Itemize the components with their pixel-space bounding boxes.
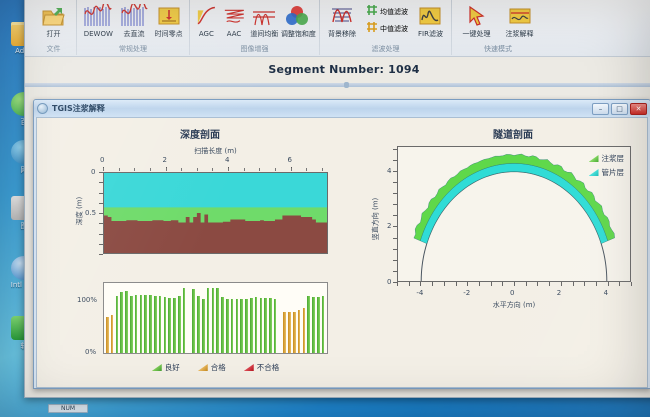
ribbon-group-filter-processing: 背景移除 均值滤波: [320, 0, 452, 55]
ribbon-button-aac[interactable]: AAC: [222, 2, 247, 39]
ribbon-button-label: 道间均衡: [250, 30, 278, 38]
splitter-grip[interactable]: [344, 82, 349, 88]
ribbon-button-label: 调整饱和度: [281, 30, 316, 38]
legend-label: 注浆层: [602, 153, 625, 164]
bar-item: [255, 297, 258, 353]
tunnel-xtick-label: 4: [604, 289, 608, 297]
tunnel-xtick-minor: [573, 282, 574, 286]
tunnel-ytick-minor: [393, 160, 397, 161]
bar-item: [159, 296, 162, 353]
tunnel-xtick-minor: [456, 282, 457, 286]
bar-item: [116, 296, 119, 353]
tunnel-xtick-minor: [479, 282, 480, 286]
splitter-bar[interactable]: [25, 83, 650, 87]
depth-xtick-minor: [212, 168, 213, 171]
tunnel-xtick-minor: [502, 282, 503, 286]
tunnel-xtick-minor: [608, 282, 609, 286]
tunnel-profile-plot-area[interactable]: 注浆层 管片层: [397, 146, 631, 282]
bar-item: [231, 299, 234, 353]
bar-item: [260, 298, 263, 353]
bar-ytick-100: 100%: [77, 296, 97, 304]
ribbon-button-agc[interactable]: AGC: [195, 2, 218, 39]
ribbon-button-label: 一键处理: [463, 30, 491, 38]
depth-xtick-minor: [228, 168, 229, 171]
bar-item: [264, 298, 267, 353]
bar-item: [202, 299, 205, 353]
ribbon-button-label: DEWOW: [84, 30, 113, 38]
legend-swatch-good-icon: [152, 364, 162, 371]
tunnel-xtick-minor: [491, 282, 492, 286]
tunnel-ytick-minor: [393, 149, 397, 150]
ribbon-button-label: AAC: [227, 30, 242, 38]
bar-item: [197, 296, 200, 353]
tunnel-ytick-minor: [393, 204, 397, 205]
depth-profile-ylabel: 深度 (m): [74, 197, 84, 226]
ribbon-button-median-filter[interactable]: 中值滤波: [366, 21, 408, 36]
quality-bar-legend: 良好 合格 不合格: [103, 362, 328, 373]
depth-ytick-minor: [99, 254, 103, 255]
bar-item: [240, 299, 243, 353]
mean-filter-icon: [366, 4, 378, 19]
bar-item: [212, 288, 215, 353]
legend-item-ok: 合格: [198, 362, 226, 373]
tunnel-xtick-minor: [619, 282, 620, 286]
legend-swatch-ok-icon: [198, 364, 208, 371]
app-icon: [37, 103, 48, 114]
bar-item: [221, 297, 224, 353]
tunnel-ytick-minor: [393, 215, 397, 216]
tunnel-ytick-minor: [393, 271, 397, 272]
depth-ytick-label: 0: [91, 168, 95, 176]
depth-profile-plot-area[interactable]: [103, 172, 328, 254]
depth-xtick-minor: [150, 168, 151, 171]
tunnel-ytick-minor: [393, 182, 397, 183]
dc-removal-icon: [120, 2, 148, 28]
bar-item: [236, 299, 239, 353]
tunnel-xtick-minor: [432, 282, 433, 286]
ribbon-button-label: FIR滤波: [418, 30, 443, 38]
tunnel-ytick-label: 2: [387, 222, 391, 230]
legend-label: 管片层: [602, 167, 625, 178]
ribbon-button-open[interactable]: 打开: [41, 2, 67, 39]
bar-item: [106, 317, 109, 353]
bar-item: [164, 297, 167, 353]
ribbon-group-label: 文件: [31, 44, 76, 54]
bar-item: [283, 312, 286, 353]
legend-swatch-grout-icon: [589, 155, 599, 162]
bar-item: [317, 297, 320, 353]
median-filter-icon: [366, 21, 378, 36]
depth-xtick-label: 0: [100, 156, 104, 164]
ribbon-group-label: 常规处理: [77, 44, 189, 54]
tunnel-xtick-minor: [420, 282, 421, 286]
bar-item: [312, 297, 315, 353]
ribbon-button-label: 均值滤波: [380, 7, 408, 17]
depth-xtick-minor: [244, 168, 245, 171]
tunnel-xtick-minor: [631, 282, 632, 286]
depth-profile-chart: 深度剖面 扫描长度 (m) 0246 00.5 深度 (m): [55, 124, 345, 274]
open-folder-icon: [41, 2, 67, 28]
legend-swatch-bad-icon: [244, 364, 254, 371]
tunnel-xtick-minor: [596, 282, 597, 286]
bar-item: [216, 288, 219, 353]
bar-item: [130, 296, 133, 353]
bar-item: [298, 310, 301, 353]
tunnel-ytick-minor: [393, 249, 397, 250]
tunnel-xtick-label: 0: [510, 289, 514, 297]
ribbon-button-dc-removal[interactable]: 去直流: [120, 2, 148, 39]
ribbon-group-regular-processing: DEWOW 去直流: [77, 0, 190, 55]
inner-window-body: 深度剖面 扫描长度 (m) 0246 00.5 深度 (m) 100% 0% 良…: [36, 117, 648, 388]
bar-item: [120, 292, 123, 353]
depth-profile-xlabel: 扫描长度 (m): [103, 146, 328, 156]
bar-item: [149, 295, 152, 353]
tunnel-xtick-minor: [561, 282, 562, 286]
depth-xtick-minor: [291, 168, 292, 171]
legend-swatch-segment-icon: [589, 169, 599, 176]
segment-layer-band: [420, 163, 607, 243]
bar-item: [322, 296, 325, 353]
bar-item: [135, 295, 138, 353]
depth-xtick-minor: [134, 168, 135, 171]
legend-label: 不合格: [257, 362, 280, 373]
ribbon-button-label: 注浆解释: [506, 30, 534, 38]
legend-item-bad: 不合格: [244, 362, 280, 373]
ribbon-button-time-zero[interactable]: 时间零点: [155, 2, 183, 39]
tunnel-profile-chart: 隧道剖面 注浆层 管片层 -4-2024 02: [359, 124, 647, 374]
ribbon-group-label: 滤波处理: [320, 44, 451, 54]
tunnel-xtick-label: -2: [463, 289, 470, 297]
ribbon-group-label: 图像增强: [190, 44, 319, 54]
tunnel-ytick-minor: [393, 226, 397, 227]
ribbon-group-file: 打开 文件: [31, 0, 77, 55]
legend-item-grout: 注浆层: [589, 153, 625, 164]
tunnel-xtick-minor: [397, 282, 398, 286]
ribbon-button-fir-filter[interactable]: FIR滤波: [418, 2, 443, 39]
tunnel-xtick-minor: [467, 282, 468, 286]
ribbon-button-one-click-process[interactable]: 一键处理: [463, 2, 491, 39]
tunnel-profile-ylabel: 竖直方向 (m): [370, 198, 380, 241]
tunnel-xtick-minor: [409, 282, 410, 286]
depth-xtick-minor: [181, 168, 182, 171]
ribbon-group-image-enhancement: AGC AAC: [190, 0, 320, 55]
tunnel-xtick-label: 2: [557, 289, 561, 297]
ribbon-button-label: 背景移除: [328, 30, 356, 38]
aac-icon: [222, 2, 247, 28]
quality-bar-chart: 100% 0% 良好 合格 不合格: [55, 276, 345, 396]
segment-number-header: Segment Number: 1094: [25, 57, 650, 83]
numlock-indicator: NUM: [48, 404, 88, 413]
grouting-interpretation-window: TGIS注浆解释 – □ ✕ 深度剖面 扫描长度 (m) 0246 00.5 深…: [33, 99, 650, 389]
legend-label: 合格: [211, 362, 226, 373]
close-button[interactable]: ✕: [630, 103, 647, 115]
bar-item: [207, 288, 210, 353]
tunnel-ytick-label: 0: [387, 278, 391, 286]
tunnel-xtick-minor: [584, 282, 585, 286]
depth-xtick-minor: [103, 168, 104, 171]
bar-item: [307, 296, 310, 353]
legend-item-good: 良好: [152, 362, 180, 373]
ribbon-button-saturation[interactable]: 调整饱和度: [281, 2, 314, 39]
bar-item: [250, 298, 253, 353]
bar-item: [178, 296, 181, 353]
ribbon-button-trace-equalize[interactable]: 道间均衡: [250, 2, 277, 39]
depth-xtick-label: 6: [288, 156, 292, 164]
fir-filter-icon: [418, 2, 443, 28]
ribbon-group-quick-mode: 一键处理 注浆解释 快速模式: [452, 0, 544, 55]
tunnel-profile-title: 隧道剖面: [379, 126, 647, 141]
tunnel-ytick-minor: [393, 238, 397, 239]
bar-item: [168, 298, 171, 353]
agc-icon: [195, 2, 218, 28]
bar-item: [293, 312, 296, 353]
ribbon-group-label: 快速模式: [452, 44, 544, 54]
ribbon-button-label: 时间零点: [155, 30, 183, 38]
ribbon-button-label: 打开: [47, 30, 61, 38]
ribbon-button-label: AGC: [199, 30, 214, 38]
time-zero-icon: [155, 2, 183, 28]
tunnel-profile-legend: 注浆层 管片层: [589, 153, 625, 181]
ribbon-button-mean-filter[interactable]: 均值滤波: [366, 4, 408, 19]
bar-item: [288, 312, 291, 353]
maximize-button[interactable]: □: [611, 103, 628, 115]
trace-equalize-icon: [250, 2, 277, 28]
tunnel-xtick-label: -4: [416, 289, 423, 297]
application-window: 开始 打开 文件: [24, 0, 650, 398]
tunnel-profile-xlabel: 水平方向 (m): [397, 300, 631, 310]
minimize-button[interactable]: –: [592, 103, 609, 115]
bar-item: [144, 295, 147, 353]
ribbon-button-grouting-interpret[interactable]: 注浆解释: [506, 2, 534, 39]
bar-item: [154, 296, 157, 353]
depth-xtick-minor: [166, 168, 167, 171]
inner-window-title: TGIS注浆解释: [52, 103, 105, 114]
tunnel-xtick-minor: [537, 282, 538, 286]
legend-item-segment: 管片层: [589, 167, 625, 178]
depth-xtick-minor: [259, 168, 260, 171]
legend-label: 良好: [165, 362, 180, 373]
tunnel-ytick-minor: [393, 260, 397, 261]
tunnel-xtick-minor: [444, 282, 445, 286]
bar-item: [173, 298, 176, 353]
depth-ytick-label: 0.5: [85, 209, 96, 217]
bar-item: [226, 299, 229, 353]
bar-item: [192, 289, 195, 353]
bar-ytick-0: 0%: [85, 348, 96, 356]
bar-item: [303, 308, 306, 354]
background-removal-icon: [328, 2, 356, 28]
depth-xtick-minor: [275, 168, 276, 171]
tunnel-ytick-label: 4: [387, 167, 391, 175]
ribbon-button-label: 中值滤波: [380, 24, 408, 34]
depth-xtick-minor: [119, 168, 120, 171]
tunnel-xtick-minor: [514, 282, 515, 286]
ribbon-button-background-removal[interactable]: 背景移除: [328, 2, 356, 39]
ribbon-button-label: 去直流: [123, 30, 144, 38]
bar-item: [245, 299, 248, 353]
dewow-icon: [83, 2, 113, 28]
tunnel-xtick-minor: [549, 282, 550, 286]
depth-xtick-label: 2: [163, 156, 167, 164]
bar-item: [125, 291, 128, 353]
cursor-arrow-icon: [463, 2, 491, 28]
depth-xtick-label: 4: [225, 156, 229, 164]
bar-item: [140, 295, 143, 353]
depth-xtick-minor: [306, 168, 307, 171]
depth-xtick-minor: [322, 168, 323, 171]
saturation-icon: [281, 2, 314, 28]
inner-window-titlebar[interactable]: TGIS注浆解释 – □ ✕: [34, 100, 650, 117]
bar-item: [111, 315, 114, 354]
bar-item: [269, 298, 272, 353]
ribbon-button-dewow[interactable]: DEWOW: [83, 2, 113, 39]
bar-item: [274, 299, 277, 353]
quality-bar-plot-area[interactable]: [103, 282, 328, 354]
ribbon-toolbar: 开始 打开 文件: [25, 0, 650, 57]
grouting-interpret-icon: [506, 2, 534, 28]
tunnel-xtick-minor: [526, 282, 527, 286]
tunnel-ytick-minor: [393, 282, 397, 283]
tunnel-ytick-minor: [393, 193, 397, 194]
bar-item: [183, 288, 186, 353]
depth-xtick-minor: [197, 168, 198, 171]
tunnel-ytick-minor: [393, 171, 397, 172]
window-controls: – □ ✕: [592, 103, 647, 115]
depth-profile-title: 深度剖面: [55, 126, 345, 141]
